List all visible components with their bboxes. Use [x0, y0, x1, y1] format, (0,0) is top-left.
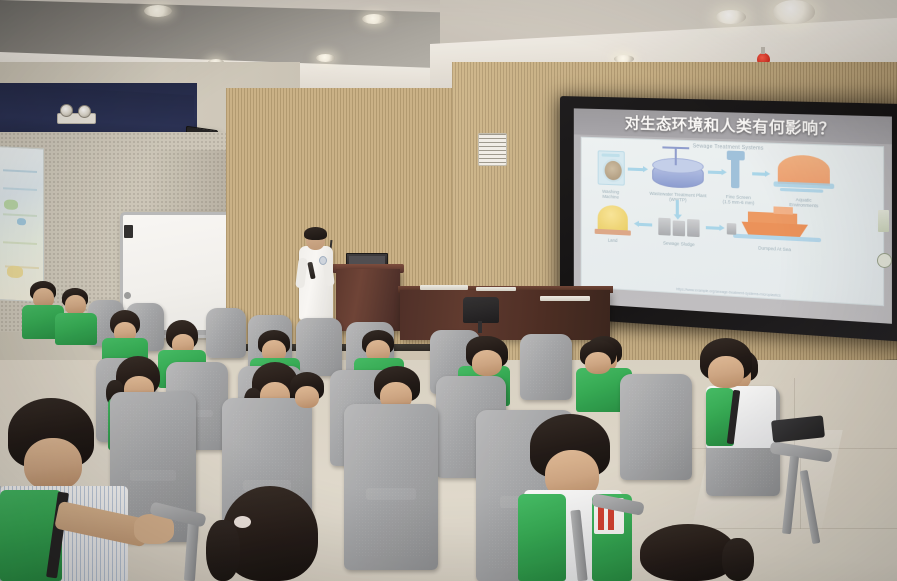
- presentation-slide: 对生态环境和人类有何影响？ Sewage Treatment Systems: [574, 108, 892, 323]
- emergency-light-bulb: [60, 104, 73, 117]
- chair-mesh: [302, 324, 336, 370]
- map-region: [17, 218, 26, 225]
- chair-mesh: [211, 313, 241, 353]
- slide-diagram: Sewage Treatment Systems: [581, 137, 884, 307]
- whiteboard-knob: [124, 292, 131, 299]
- label-land: Land: [596, 237, 630, 244]
- label-fine-screen: Fine Screen(1.5 mm-6 mm): [715, 194, 762, 207]
- map-region: [4, 199, 18, 210]
- office-chair[interactable]: [463, 297, 499, 323]
- wwtp-tank-arm: [662, 146, 689, 149]
- wall-vent-grille: [478, 133, 507, 166]
- projection-screen-display[interactable]: 对生态环境和人类有何影响？ Sewage Treatment Systems: [574, 108, 892, 323]
- label-washing-machine: WashingMachine: [590, 188, 632, 201]
- map-poster: [0, 146, 44, 302]
- chair-mesh: [355, 416, 429, 558]
- chair-mesh: [628, 383, 685, 471]
- flow-arrow-icon: [638, 223, 652, 227]
- fine-screen-head: [727, 151, 745, 161]
- flow-arrow-icon: [706, 226, 721, 230]
- chair-mesh: [526, 340, 566, 393]
- ship-cabin-icon: [774, 206, 793, 214]
- screen-bezel-badge-icon: [877, 253, 892, 268]
- screen-bezel-sticker: [878, 210, 889, 232]
- washing-machine-icon: [598, 150, 625, 185]
- ceiling-dome-light: [716, 10, 746, 24]
- flow-arrow-icon: [676, 200, 679, 214]
- sludge-drum-icon: [658, 218, 670, 236]
- land-base: [595, 229, 631, 236]
- slide-source-url[interactable]: https://www.example.org/sewage-treatment…: [582, 281, 883, 304]
- flow-arrow-icon: [708, 171, 723, 175]
- student-head: [295, 386, 319, 408]
- table-papers: [540, 296, 590, 301]
- student-vest: [518, 494, 566, 581]
- table-papers: [476, 287, 516, 291]
- sludge-drum-icon: [673, 220, 685, 236]
- wwtp-tank-arm: [675, 147, 677, 166]
- projection-screen-frame[interactable]: 对生态环境和人类有何影响？ Sewage Treatment Systems: [560, 96, 897, 343]
- ceiling-dome-light: [773, 0, 815, 24]
- emergency-light-bulb: [78, 105, 91, 118]
- washing-machine-panel: [602, 153, 620, 157]
- student-hair-tie: [234, 516, 251, 528]
- label-sewage-sludge: Sewage Sludge: [650, 240, 708, 249]
- presenter-badge: [319, 256, 327, 265]
- water-waves-icon: [733, 234, 821, 243]
- chair-lumbar-support: [130, 470, 176, 481]
- student-head: [708, 356, 744, 388]
- student-head: [65, 295, 86, 315]
- map-region: [7, 265, 23, 278]
- washing-machine-drum: [603, 159, 624, 183]
- student-ponytail: [206, 520, 240, 581]
- ceiling-downlight: [144, 5, 172, 17]
- dumped-drum-icon: [727, 223, 736, 235]
- ceiling-downlight: [316, 54, 335, 62]
- student-head: [472, 350, 502, 376]
- sludge-drum-icon: [687, 219, 699, 237]
- flow-arrow-icon: [628, 168, 644, 172]
- flow-arrow-icon: [752, 172, 766, 176]
- student-head: [585, 352, 611, 374]
- chair-lumbar-support: [366, 488, 416, 500]
- classroom-scene: 对生态环境和人类有何影响？ Sewage Treatment Systems: [0, 0, 897, 581]
- water-waves-icon: [780, 188, 823, 193]
- student-vest: [55, 313, 97, 345]
- ceiling-downlight: [362, 14, 386, 24]
- student-head: [24, 438, 82, 490]
- label-dumped-at-sea: Dumped At Sea: [744, 245, 806, 254]
- presenter-hair: [304, 227, 327, 240]
- table-papers: [420, 285, 468, 290]
- student-ponytail: [722, 538, 754, 581]
- whiteboard-clip: [124, 225, 133, 238]
